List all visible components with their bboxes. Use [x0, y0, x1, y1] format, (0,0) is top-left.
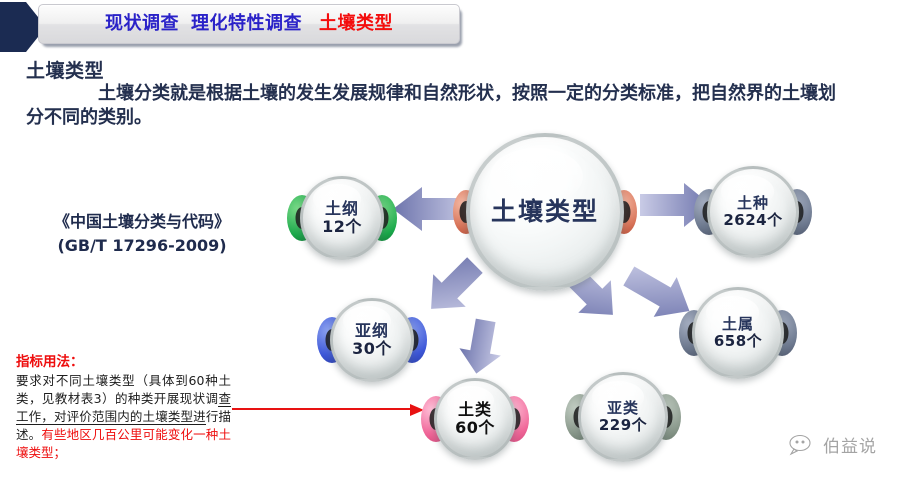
- page-title: 土壤类型: [26, 56, 104, 83]
- node-label: 土壤类型: [491, 198, 599, 226]
- pointer-arrow-shaft: [232, 408, 414, 410]
- note-body: 要求对不同土壤类型（具体到60种土类，见教材表3）的种类开展现状调查工作，对评价…: [16, 372, 231, 462]
- node-sphere: 土种 2624个: [707, 166, 799, 258]
- watermark-text: 伯益说: [823, 432, 877, 457]
- node-label: 土种: [737, 195, 769, 212]
- node-sphere: 土壤类型: [466, 133, 624, 291]
- header-segment-physchem-survey[interactable]: 理化特性调查: [191, 15, 302, 33]
- node-label: 土属: [722, 316, 754, 333]
- node-count: 60个: [455, 419, 495, 437]
- intro-paragraph: 土壤分类就是根据土壤的发生发展规律和自然形状，按照一定的分类标准，把自然界的土壤…: [26, 82, 852, 131]
- diagram-node-yalei[interactable]: 亚类 229个: [578, 372, 668, 462]
- chat-bubble-icon: [788, 434, 816, 456]
- standard-reference: 《中国土壤分类与代码》 (GB/T 17296-2009): [22, 210, 262, 258]
- node-sphere: 土属 658个: [692, 287, 784, 379]
- pointer-arrow-to-tulei: [232, 404, 428, 416]
- standard-name: 《中国土壤分类与代码》: [22, 210, 262, 234]
- note-line-1: 要求对不同土壤类型（具体到60种土: [16, 373, 231, 388]
- diagram-node-yagang[interactable]: 亚纲 30个: [330, 298, 414, 382]
- diagram-node-tushu[interactable]: 土属 658个: [692, 287, 784, 379]
- node-sphere: 土纲 12个: [300, 176, 384, 260]
- watermark: 伯益说: [788, 432, 877, 457]
- note-line-4-red: 有些地区几百公里可能变化: [41, 427, 193, 442]
- node-count: 229个: [599, 417, 647, 434]
- node-count: 2624个: [723, 212, 782, 229]
- note-line-2: 类，见教材表3）的种类开展现状调: [16, 391, 218, 406]
- node-sphere: 土类 60个: [434, 378, 516, 460]
- slide-canvas: 现状调查 理化特性调查 土壤类型 土壤类型 土壤分类就是根据土壤的发生发展规律和…: [0, 0, 915, 488]
- node-count: 12个: [322, 218, 362, 236]
- node-count: 30个: [352, 340, 392, 358]
- node-label: 亚纲: [355, 322, 389, 340]
- node-sphere: 亚类 229个: [578, 372, 668, 462]
- node-label: 土类: [458, 401, 492, 419]
- node-sphere: 亚纲 30个: [330, 298, 414, 382]
- diagram-node-center-soil-type[interactable]: 土壤类型: [466, 133, 624, 291]
- arrow-center-to-tulei: [452, 316, 510, 378]
- header-bar: 现状调查 理化特性调查 土壤类型: [38, 4, 460, 44]
- header-segment-status-survey[interactable]: 现状调查: [105, 15, 179, 33]
- diagram-node-tugang[interactable]: 土纲 12个: [300, 176, 384, 260]
- node-count: 658个: [714, 333, 762, 350]
- diagram-node-tuzhong[interactable]: 土种 2624个: [707, 166, 799, 258]
- header-segment-soil-type[interactable]: 土壤类型: [319, 15, 393, 33]
- standard-code: (GB/T 17296-2009): [22, 234, 262, 258]
- node-label: 亚类: [607, 400, 639, 417]
- node-label: 土纲: [325, 200, 359, 218]
- note-heading: 指标用法：: [16, 352, 231, 372]
- diagram-node-tulei[interactable]: 土类 60个: [434, 378, 516, 460]
- indicator-usage-note: 指标用法： 要求对不同土壤类型（具体到60种土类，见教材表3）的种类开展现状调查…: [16, 352, 231, 462]
